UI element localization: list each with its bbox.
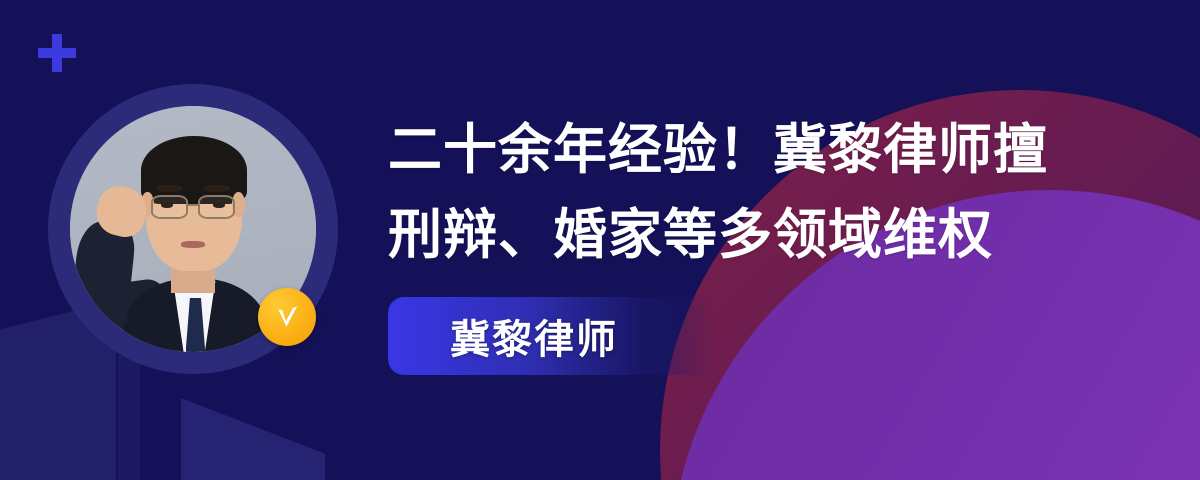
polygon-shape-mid xyxy=(125,398,325,480)
page-title: 二十余年经验！冀黎律师擅刑辩、婚家等多领域维权 xyxy=(388,108,1088,278)
verified-badge-icon xyxy=(258,288,316,346)
lawyer-name-badge[interactable]: 冀黎律师 xyxy=(388,297,714,375)
lawyer-name-label: 冀黎律师 xyxy=(450,307,618,365)
copy-block: 二十余年经验！冀黎律师擅刑辩、婚家等多领域维权 xyxy=(388,108,1088,278)
plus-icon xyxy=(38,34,76,72)
lawyer-promo-banner: 二十余年经验！冀黎律师擅刑辩、婚家等多领域维权 冀黎律师 xyxy=(0,0,1200,480)
